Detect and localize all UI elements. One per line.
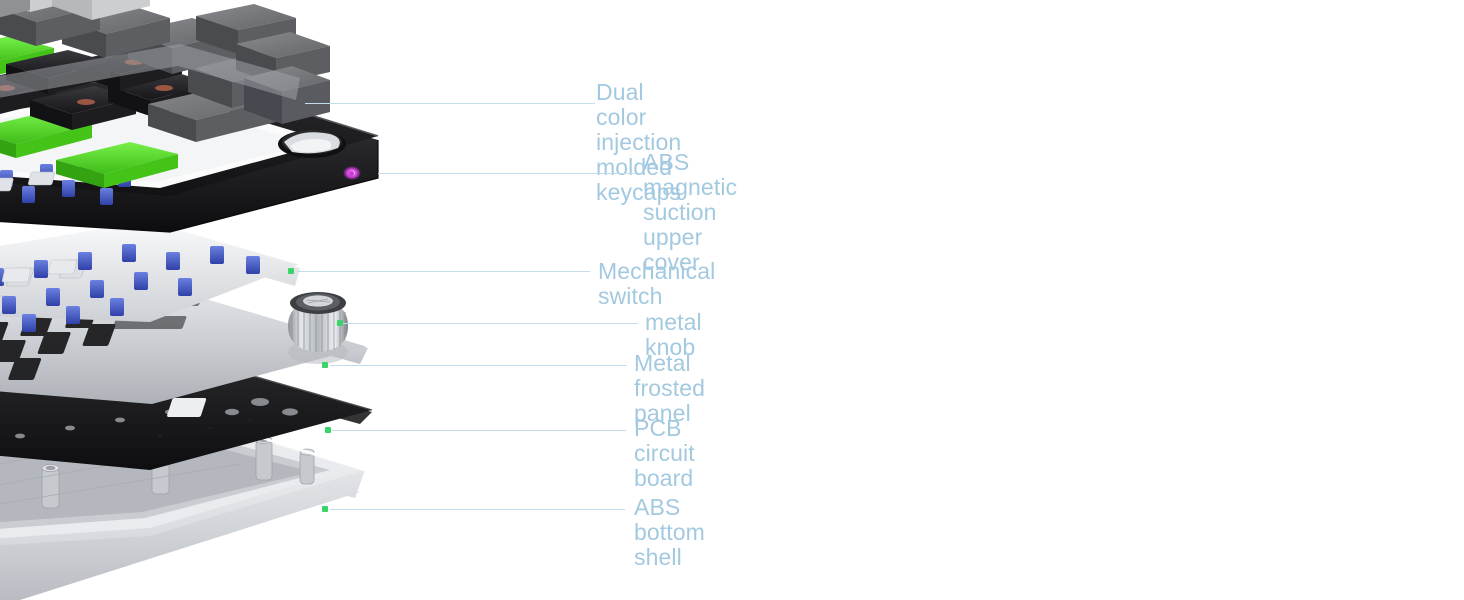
anchor-marker-metal-frosted-panel [322,362,328,368]
led-accent-marker [349,171,354,176]
anchor-marker-pcb-circuit-board [325,427,331,433]
leader-line-keycaps [305,103,595,104]
bottom-shell-layer [0,400,365,600]
leader-line-pcb-circuit-board [332,430,626,431]
anchor-marker-mechanical-switch [288,268,294,274]
switch-layer [0,220,300,348]
leader-line-upper-cover [378,173,635,174]
exploded-view-diagram: Dual color injection molded keycaps ABS … [0,0,1464,600]
label-pcb-circuit-board: PCB circuit board [634,416,695,491]
leader-line-mechanical-switch [297,271,590,272]
keyboard-artwork [0,0,1464,600]
label-abs-bottom-shell: ABS bottom shell [634,495,705,570]
leader-line-metal-frosted-panel [330,365,627,366]
switch-layer-upper [0,158,131,219]
label-upper-cover: ABS magnetic suction upper cover [643,150,737,275]
label-mechanical-switch: Mechanical switch [598,259,715,309]
pcb-layer [0,346,372,470]
leader-line-metal-knob [343,323,638,324]
upper-cover-layer [0,70,378,232]
knob [288,292,348,364]
anchor-marker-abs-bottom-shell [322,506,328,512]
keycap-layer [0,0,330,188]
panel-layer [0,282,368,404]
leader-line-abs-bottom-shell [330,509,625,510]
